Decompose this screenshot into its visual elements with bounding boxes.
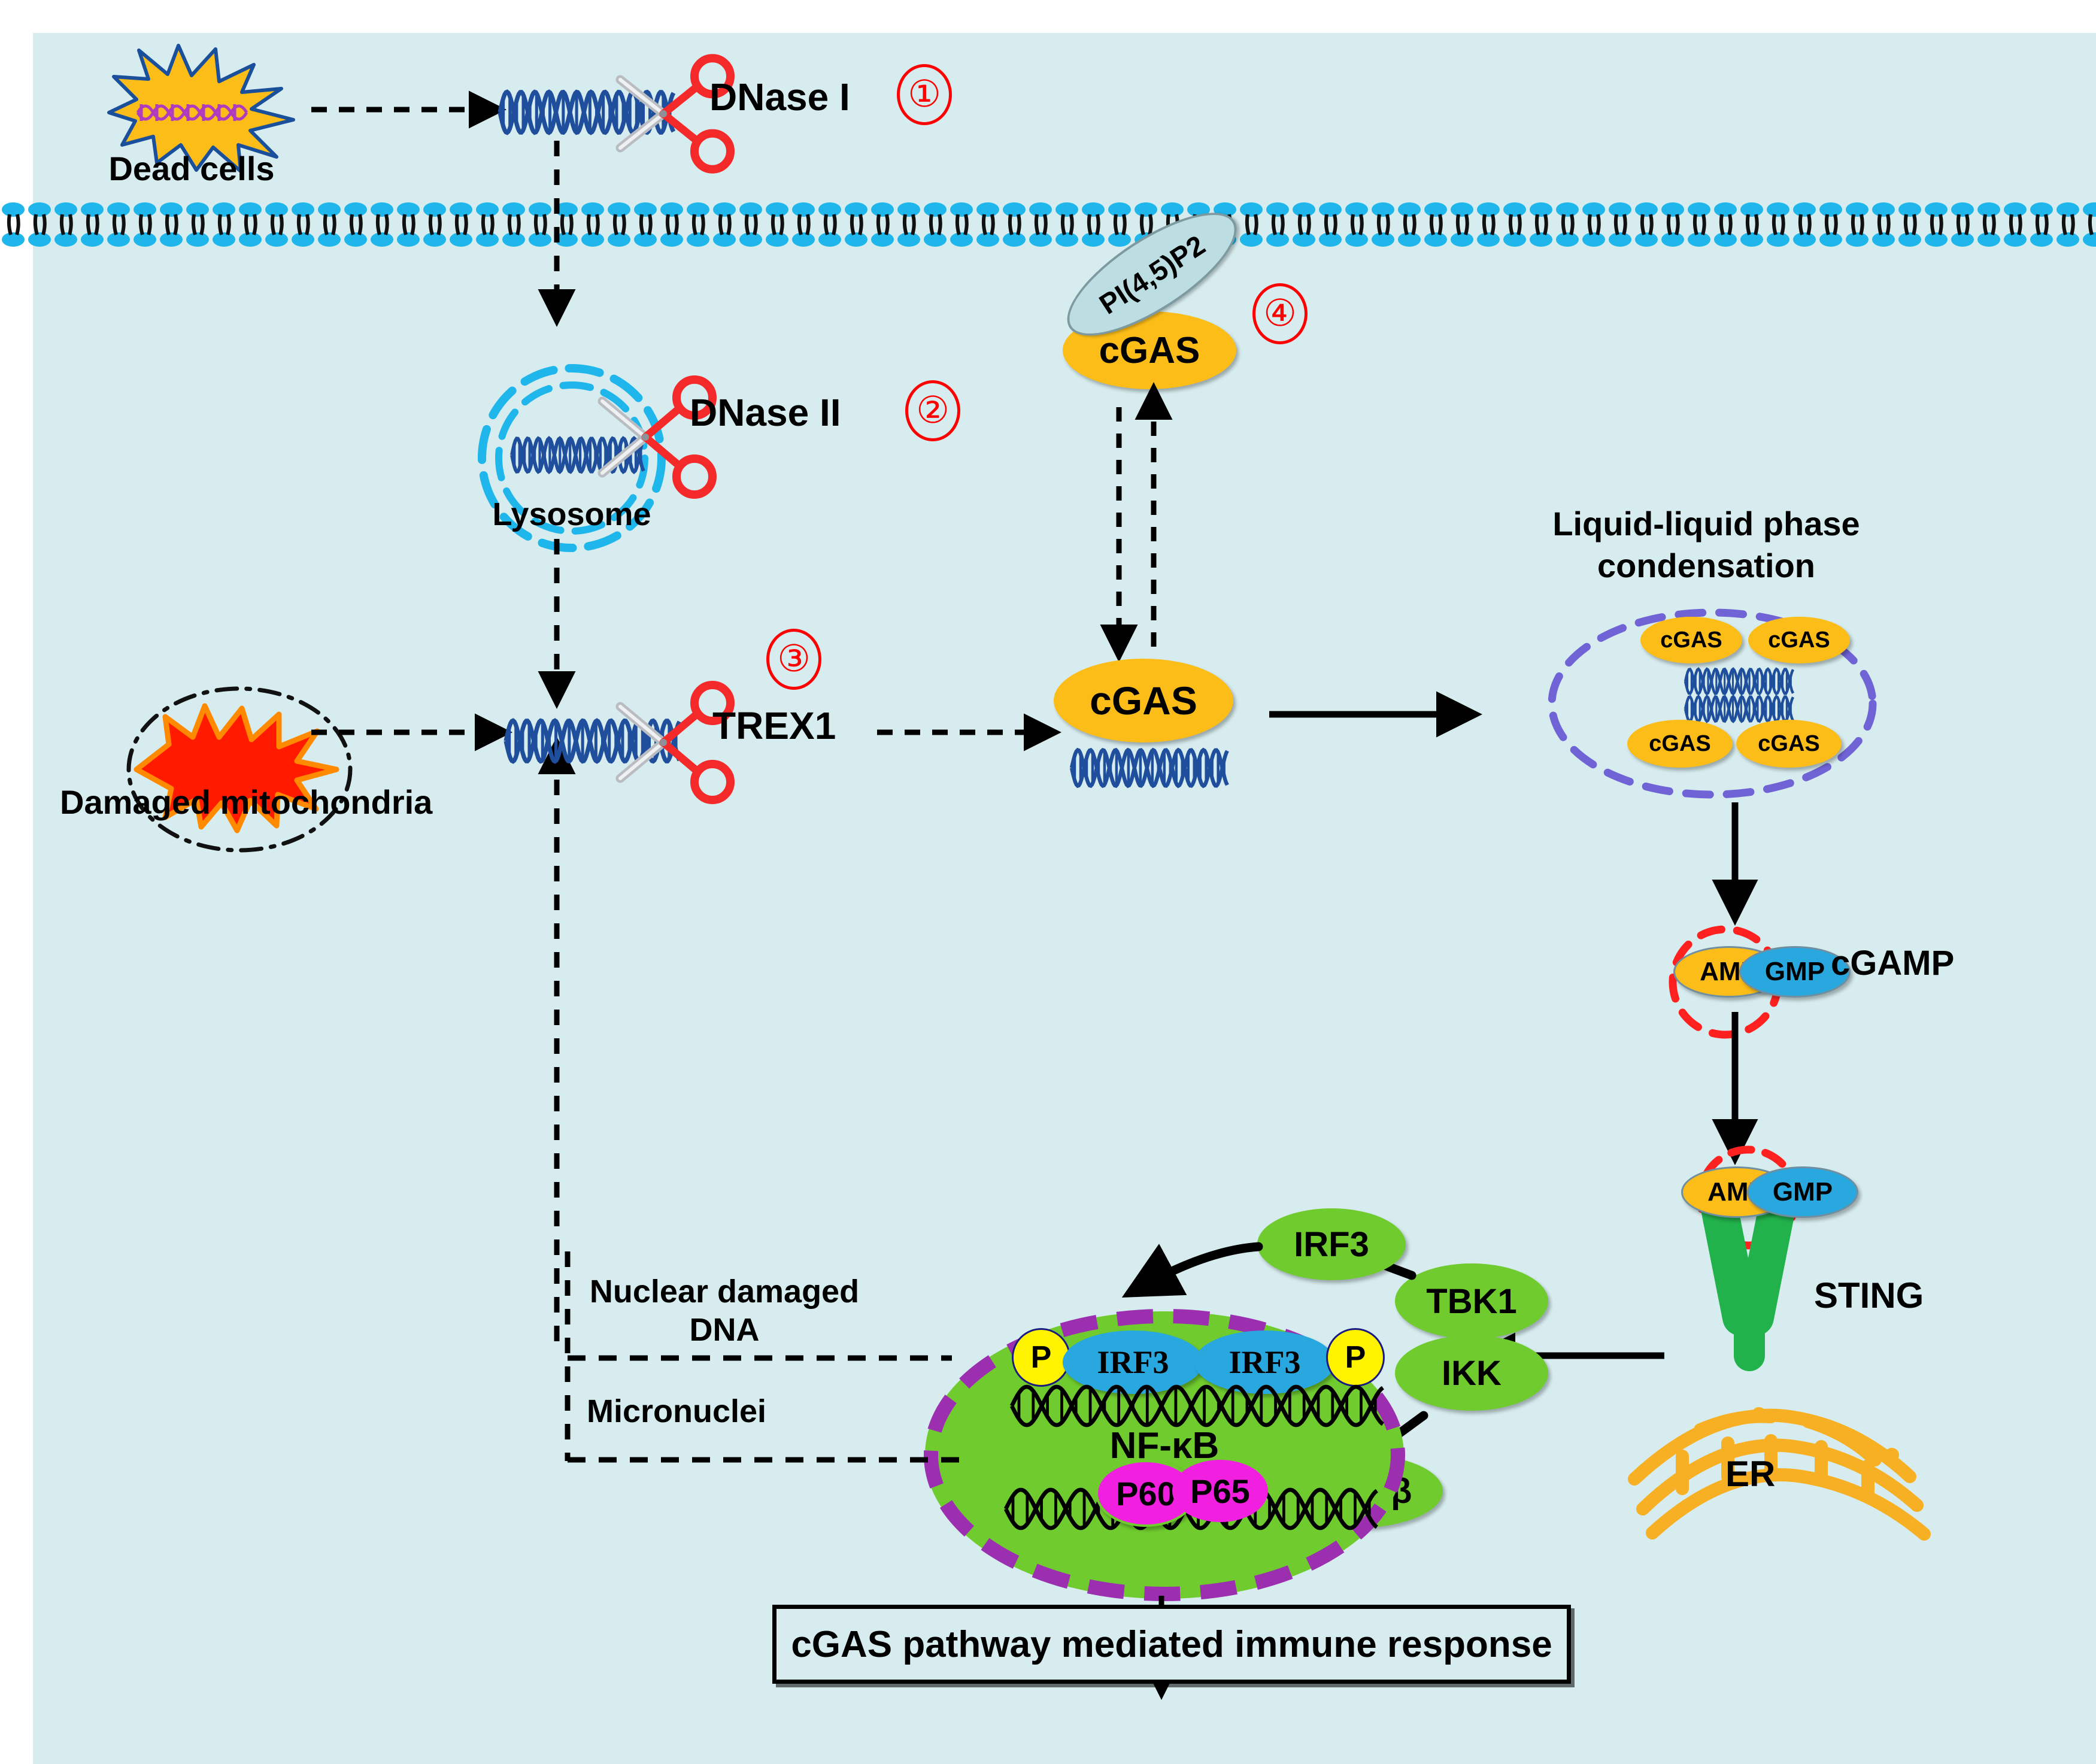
condensation-title-line1: Liquid-liquid phase xyxy=(1509,506,1904,542)
condensation-title-line2: condensation xyxy=(1509,548,1904,584)
phospho-group-right: P xyxy=(1326,1328,1385,1387)
cgas-cytosolic: cGAS xyxy=(1054,659,1233,742)
gmp-bound-sting: GMP xyxy=(1747,1166,1858,1218)
dead-cells-label: Dead cells xyxy=(78,151,305,187)
arrow-lysosome-to-cytosol xyxy=(533,539,587,719)
condensate-dna-1 xyxy=(1685,666,1793,697)
arrow-cgas-to-condensation xyxy=(1269,698,1485,734)
lysosome-label: Lysosome xyxy=(473,497,671,532)
nuclear-damaged-dna-label-line2: DNA xyxy=(575,1313,874,1347)
dnase1-label: DNase I xyxy=(709,77,850,118)
endoplasmic-reticulum-icon xyxy=(1610,1359,1958,1533)
nfkb-p65-subunit: P65 xyxy=(1172,1460,1268,1522)
figure-canvas: Dead cells DNase I ① DNase II ② Lysosome… xyxy=(0,0,2096,1764)
arrow-condensate-to-cgamp xyxy=(1717,802,1753,922)
outcome-box: cGAS pathway mediated immune response xyxy=(772,1605,1571,1684)
arrow-dna-into-cell xyxy=(533,141,587,338)
arrow-irf3-to-nucleus xyxy=(1126,1216,1275,1293)
sting-label: STING xyxy=(1814,1277,1924,1316)
arrow-trex1-to-cgas xyxy=(877,716,1069,751)
nuclear-damaged-dna-label-line1: Nuclear damaged xyxy=(575,1274,874,1309)
step-number-2: ② xyxy=(905,383,960,438)
damaged-mitochondria-icon xyxy=(114,680,365,859)
arrow-mito-to-dna xyxy=(311,716,515,751)
trex1-label: TREX1 xyxy=(712,705,836,747)
nfkb-label: NF-κB xyxy=(1045,1426,1284,1466)
step-number-1: ① xyxy=(897,67,952,122)
damaged-mitochondria-label: Damaged mitochondria xyxy=(60,784,431,820)
irf3-cytosolic: IRF3 xyxy=(1257,1208,1406,1280)
plasma-membrane xyxy=(0,198,2096,269)
nuclear-dna-upper xyxy=(1012,1382,1383,1430)
arrows-cgas-translocation xyxy=(1105,395,1200,659)
er-label: ER xyxy=(1725,1455,1775,1494)
step-number-4: ④ xyxy=(1252,286,1308,341)
dnase2-label: DNase II xyxy=(690,392,841,434)
arrow-cgamp-to-sting xyxy=(1717,1012,1753,1162)
phospho-group-left: P xyxy=(1012,1328,1070,1387)
dna-strand-bound-cgas xyxy=(1072,745,1227,790)
arrow-deadcells-to-dna xyxy=(311,93,515,129)
condensate-cgas-2: cGAS xyxy=(1748,617,1850,663)
micronuclei-label: Micronuclei xyxy=(587,1394,766,1429)
cgamp-label: cGAMP xyxy=(1831,945,1954,983)
condensate-cgas-4: cGAS xyxy=(1736,720,1842,768)
step-number-3: ③ xyxy=(766,632,821,687)
ikk-kinase: IKK xyxy=(1395,1335,1548,1411)
condensate-cgas-3: cGAS xyxy=(1627,720,1733,768)
condensate-cgas-1: cGAS xyxy=(1640,617,1742,663)
